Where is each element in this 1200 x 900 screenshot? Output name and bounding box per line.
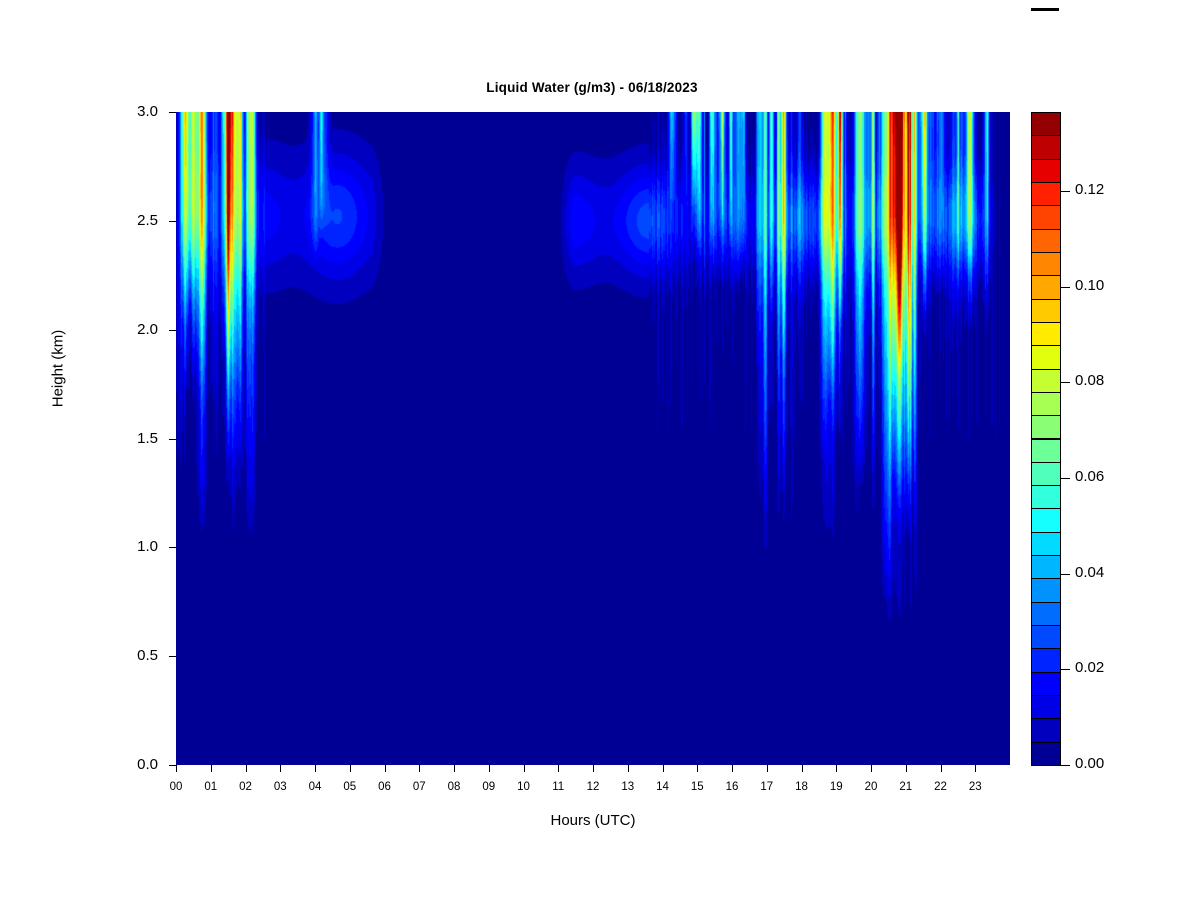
x-tick-mark — [628, 765, 629, 772]
y-tick-mark — [169, 656, 176, 657]
x-tick-mark — [593, 765, 594, 772]
x-tick-mark — [663, 765, 664, 772]
y-tick-label: 3.0 — [96, 103, 158, 120]
y-tick-label: 2.0 — [96, 321, 158, 338]
colorbar-segment — [1031, 182, 1061, 206]
colorbar-segment — [1031, 462, 1061, 486]
colorbar-tick-label: 0.04 — [1075, 564, 1104, 581]
x-tick-label: 23 — [955, 781, 995, 793]
chart-figure: Liquid Water (g/m3) - 06/18/2023 0.00.51… — [0, 0, 1200, 900]
x-axis-title: Hours (UTC) — [176, 812, 1010, 829]
x-tick-mark — [489, 765, 490, 772]
colorbar-tick-mark — [1061, 478, 1070, 479]
colorbar-tick-mark — [1061, 669, 1070, 670]
x-tick-mark — [802, 765, 803, 772]
x-tick-mark — [280, 765, 281, 772]
heatmap-plot-area — [176, 112, 1010, 765]
colorbar-segment — [1031, 322, 1061, 346]
colorbar-segment — [1031, 718, 1061, 742]
colorbar-segment — [1031, 602, 1061, 626]
x-tick-mark — [558, 765, 559, 772]
x-tick-mark — [871, 765, 872, 772]
colorbar-segment — [1031, 135, 1061, 159]
colorbar-segment — [1031, 159, 1061, 183]
x-tick-mark — [524, 765, 525, 772]
x-tick-mark — [176, 765, 177, 772]
colorbar-tick-mark — [1061, 287, 1070, 288]
x-tick-mark — [767, 765, 768, 772]
chart-title: Liquid Water (g/m3) - 06/18/2023 — [0, 80, 1192, 95]
colorbar-segment — [1031, 648, 1061, 672]
colorbar-tick-label: 0.02 — [1075, 659, 1104, 676]
y-tick-label: 1.5 — [96, 430, 158, 447]
colorbar-segment — [1031, 275, 1061, 299]
x-tick-mark — [211, 765, 212, 772]
x-tick-mark — [246, 765, 247, 772]
colorbar-segment — [1031, 369, 1061, 393]
colorbar-tick-label: 0.00 — [1075, 755, 1104, 772]
y-axis-title: Height (km) — [50, 289, 67, 449]
y-tick-mark — [169, 547, 176, 548]
colorbar-segment — [1031, 299, 1061, 323]
x-tick-mark — [419, 765, 420, 772]
colorbar-tick-label: 0.12 — [1075, 181, 1104, 198]
y-tick-mark — [169, 221, 176, 222]
colorbar-segment — [1031, 205, 1061, 229]
x-tick-mark — [975, 765, 976, 772]
colorbar-segment — [1031, 625, 1061, 649]
colorbar-tick-mark — [1061, 382, 1070, 383]
colorbar-segment — [1031, 578, 1061, 602]
x-tick-mark — [350, 765, 351, 772]
colorbar-segment — [1031, 508, 1061, 532]
colorbar-segment — [1031, 252, 1061, 276]
heatmap-canvas — [176, 112, 1010, 765]
y-tick-label: 1.0 — [96, 538, 158, 555]
x-tick-mark — [941, 765, 942, 772]
render-artifact-line — [1031, 8, 1059, 11]
colorbar-tick-label: 0.06 — [1075, 468, 1104, 485]
colorbar-segment — [1031, 742, 1061, 766]
y-tick-mark — [169, 439, 176, 440]
y-tick-label: 0.0 — [96, 756, 158, 773]
colorbar-segment — [1031, 392, 1061, 416]
colorbar — [1031, 112, 1061, 765]
y-tick-label: 0.5 — [96, 647, 158, 664]
colorbar-segment — [1031, 345, 1061, 369]
colorbar-tick-label: 0.10 — [1075, 277, 1104, 294]
colorbar-tick-mark — [1061, 191, 1070, 192]
colorbar-segment — [1031, 485, 1061, 509]
colorbar-tick-mark — [1061, 765, 1070, 766]
x-tick-mark — [315, 765, 316, 772]
x-tick-mark — [906, 765, 907, 772]
colorbar-segment — [1031, 112, 1061, 136]
x-tick-mark — [732, 765, 733, 772]
x-tick-mark — [385, 765, 386, 772]
colorbar-segment — [1031, 439, 1061, 463]
colorbar-segment — [1031, 532, 1061, 556]
colorbar-segment — [1031, 672, 1061, 696]
y-tick-label: 2.5 — [96, 212, 158, 229]
x-tick-mark — [836, 765, 837, 772]
colorbar-segment — [1031, 229, 1061, 253]
y-tick-mark — [169, 765, 176, 766]
x-tick-mark — [697, 765, 698, 772]
y-tick-mark — [169, 330, 176, 331]
colorbar-segment — [1031, 415, 1061, 439]
colorbar-segment — [1031, 695, 1061, 719]
colorbar-tick-mark — [1061, 574, 1070, 575]
y-tick-mark — [169, 112, 176, 113]
x-tick-mark — [454, 765, 455, 772]
colorbar-tick-label: 0.08 — [1075, 372, 1104, 389]
colorbar-segment — [1031, 555, 1061, 579]
